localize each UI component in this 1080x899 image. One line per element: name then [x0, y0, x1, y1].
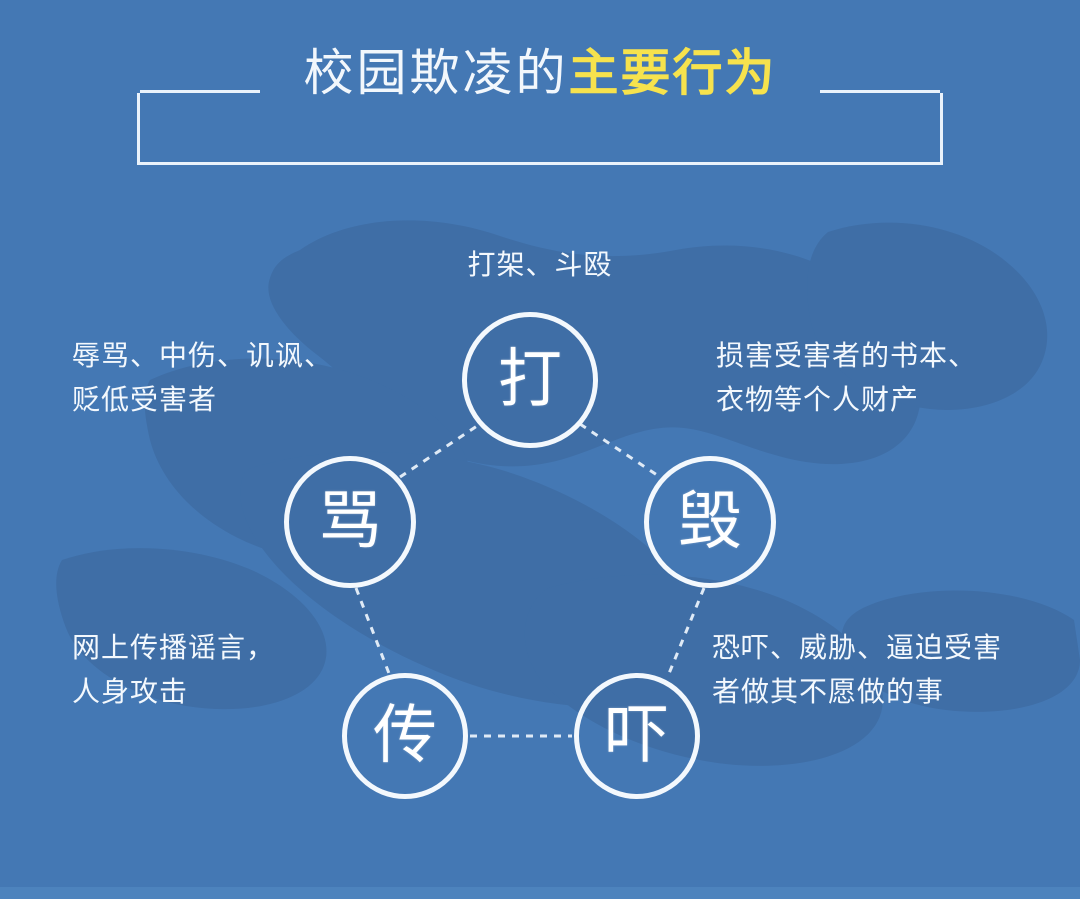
infographic-canvas: 校园欺凌的主要行为 打 骂 毁 传 吓 打架、斗殴 辱骂、中伤、讥讽、 贬低受害… [0, 0, 1080, 899]
node-circle-hui[interactable]: 毁 [644, 456, 776, 588]
caption-left-ma: 辱骂、中伤、讥讽、 贬低受害者 [72, 334, 333, 422]
connector-da-hui [580, 424, 660, 477]
connector-lines [0, 0, 1080, 899]
caption-bottom-left-chuan: 网上传播谣言， 人身攻击 [72, 626, 275, 714]
node-char-hui: 毁 [678, 490, 742, 554]
page-title-accent: 主要行为 [569, 45, 777, 101]
connector-ma-da [400, 424, 480, 477]
node-char-ma: 骂 [318, 490, 382, 554]
caption-top-da: 打架、斗殴 [0, 243, 1080, 287]
node-circle-chuan[interactable]: 传 [342, 673, 468, 799]
caption-bottom-right-xia: 恐吓、威胁、逼迫受害 者做其不愿做的事 [712, 626, 1002, 714]
node-circle-da[interactable]: 打 [462, 312, 598, 448]
page-title: 校园欺凌的主要行为 [0, 48, 1080, 98]
node-circle-ma[interactable]: 骂 [284, 456, 416, 588]
caption-right-hui: 损害受害者的书本、 衣物等个人财产 [716, 334, 977, 422]
page-title-main: 校园欺凌的 [304, 45, 569, 101]
connector-hui-xia [668, 588, 704, 676]
node-circle-xia[interactable]: 吓 [574, 673, 700, 799]
connector-ma-chu [356, 588, 390, 676]
node-char-da: 打 [498, 348, 562, 412]
node-char-xia: 吓 [605, 704, 669, 768]
node-char-chuan: 传 [373, 704, 437, 768]
